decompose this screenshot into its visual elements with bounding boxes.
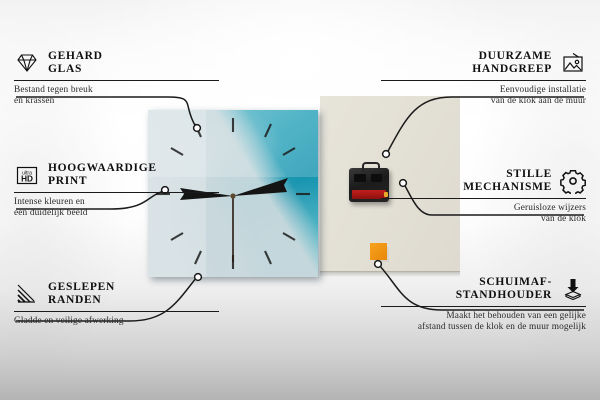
- feature-title: GESLEPENRANDEN: [48, 281, 115, 307]
- beveled-edges-icon: [14, 281, 40, 307]
- feature-title: SCHUIMAF-STANDHOUDER: [456, 276, 552, 302]
- hanging-hook-icon: [362, 162, 380, 172]
- press-down-icon: [560, 276, 586, 302]
- feature-description: Intense kleuren eneen duidelijk beeld: [14, 197, 219, 219]
- feature-description: Gladde en veilige afwerking: [14, 316, 219, 327]
- feature-gehard-glas: GEHARDGLAS Bestand tegen breuken krassen: [14, 50, 219, 107]
- feature-description: Eenvoudige installatievan de klok aan de…: [381, 85, 586, 107]
- feature-stille-mechanisme: STILLEMECHANISME Geruisloze wijzersvan d…: [381, 168, 586, 225]
- feature-description: Maakt het behouden van een gelijkeafstan…: [381, 311, 586, 333]
- infographic-canvas: GEHARDGLAS Bestand tegen breuken krassen…: [0, 0, 600, 400]
- divider: [381, 306, 586, 307]
- diamond-icon: [14, 50, 40, 76]
- feature-description: Bestand tegen breuken krassen: [14, 85, 219, 107]
- divider: [14, 311, 219, 312]
- picture-frame-icon: [560, 50, 586, 76]
- gear-icon: [560, 168, 586, 194]
- divider: [381, 198, 586, 199]
- feature-hoogwaardige-print: ultra HD HOOGWAARDIGEPRINT Intense kleur…: [14, 162, 219, 219]
- divider: [14, 192, 219, 193]
- divider: [14, 80, 219, 81]
- feature-title: STILLEMECHANISME: [463, 168, 552, 194]
- feature-title: DUURZAMEHANDGREEP: [472, 50, 552, 76]
- feature-title: HOOGWAARDIGEPRINT: [48, 162, 157, 188]
- foam-spacer-pad: [370, 243, 387, 260]
- feature-title: GEHARDGLAS: [48, 50, 103, 76]
- ultra-hd-icon: ultra HD: [14, 162, 40, 188]
- feature-duurzame-handgreep: DUURZAMEHANDGREEP Eenvoudige installatie…: [381, 50, 586, 107]
- svg-text:HD: HD: [21, 174, 33, 183]
- feature-description: Geruisloze wijzersvan de klok: [381, 203, 586, 225]
- feature-geslepen-randen: GESLEPENRANDEN Gladde en veilige afwerki…: [14, 281, 219, 327]
- feature-schuimaf-standhouder: SCHUIMAF-STANDHOUDER Maakt het behouden …: [381, 276, 586, 333]
- mechanism-slot: [354, 174, 366, 182]
- divider: [381, 80, 586, 81]
